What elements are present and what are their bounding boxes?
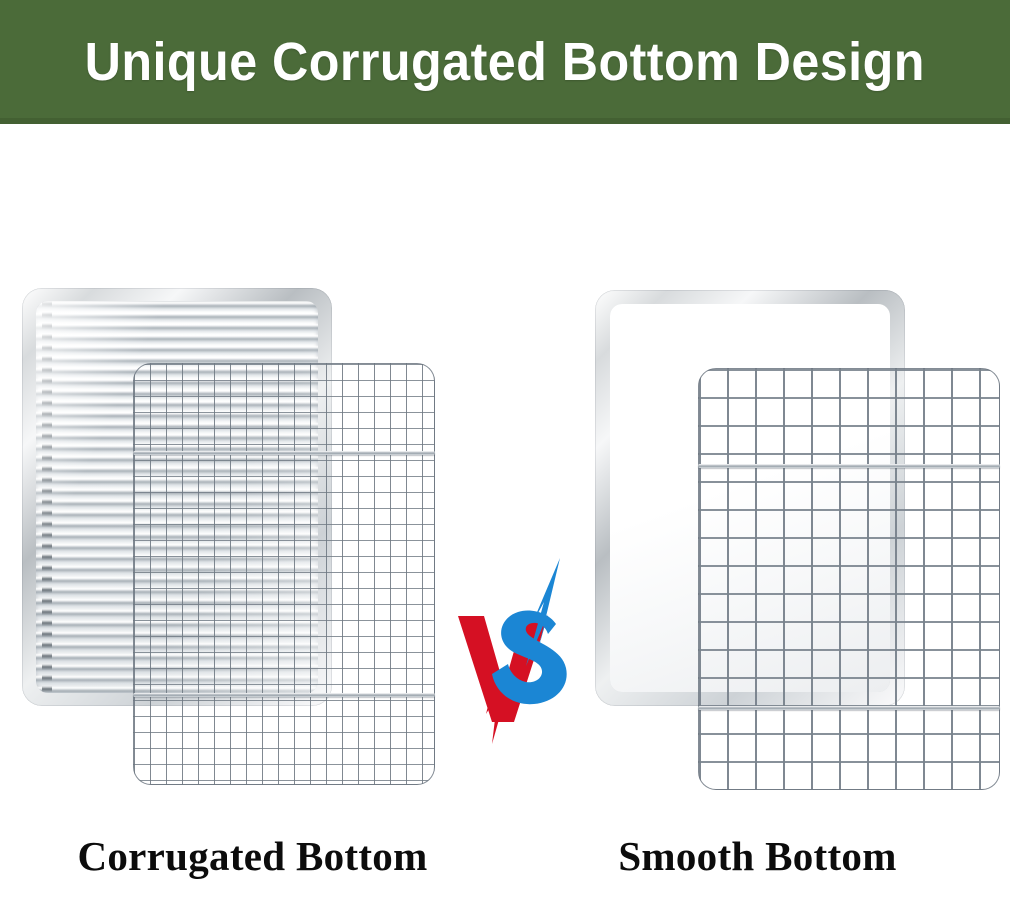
vs-badge	[452, 554, 572, 744]
rack-wire-grid	[698, 368, 1000, 790]
rack-support-bar	[133, 451, 435, 455]
rack-wire-grid	[133, 363, 435, 785]
coarse-wire-cooling-rack	[698, 368, 1000, 790]
caption-smooth: Smooth Bottom	[505, 832, 1010, 880]
page-title: Unique Corrugated Bottom Design	[85, 31, 925, 93]
fine-wire-cooling-rack	[133, 363, 435, 785]
caption-corrugated: Corrugated Bottom	[0, 832, 505, 880]
header-banner: Unique Corrugated Bottom Design	[0, 0, 1010, 124]
rack-support-bar	[133, 693, 435, 697]
rack-support-bar	[698, 706, 1000, 710]
rack-support-bar	[698, 464, 1000, 468]
comparison-stage	[0, 124, 1010, 900]
